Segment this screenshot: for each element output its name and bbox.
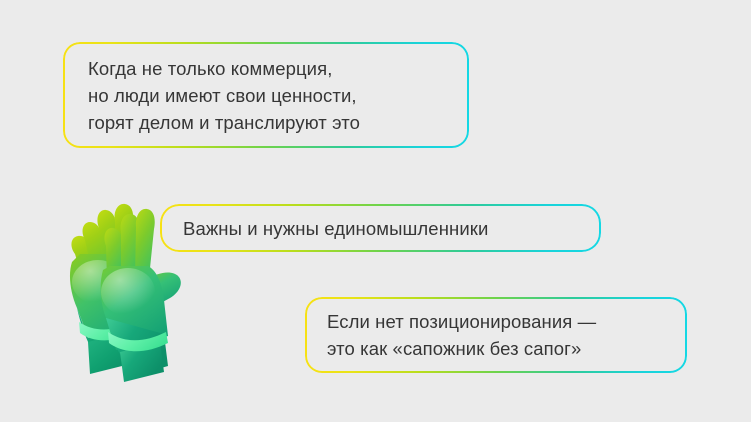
slide-canvas: Когда не только коммерция, но люди имеют… xyxy=(0,0,751,422)
speech-bubble-positioning: Если нет позиционирования — это как «сап… xyxy=(305,297,687,373)
speech-bubble-values: Когда не только коммерция, но люди имеют… xyxy=(63,42,469,148)
speech-bubble-likeminded-text: Важны и нужны единомышленники xyxy=(160,215,488,242)
speech-bubble-positioning-text: Если нет позиционирования — это как «сап… xyxy=(305,308,596,362)
speech-bubble-values-text: Когда не только коммерция, но люди имеют… xyxy=(63,55,360,136)
speech-bubble-likeminded: Важны и нужны единомышленники xyxy=(160,204,601,252)
